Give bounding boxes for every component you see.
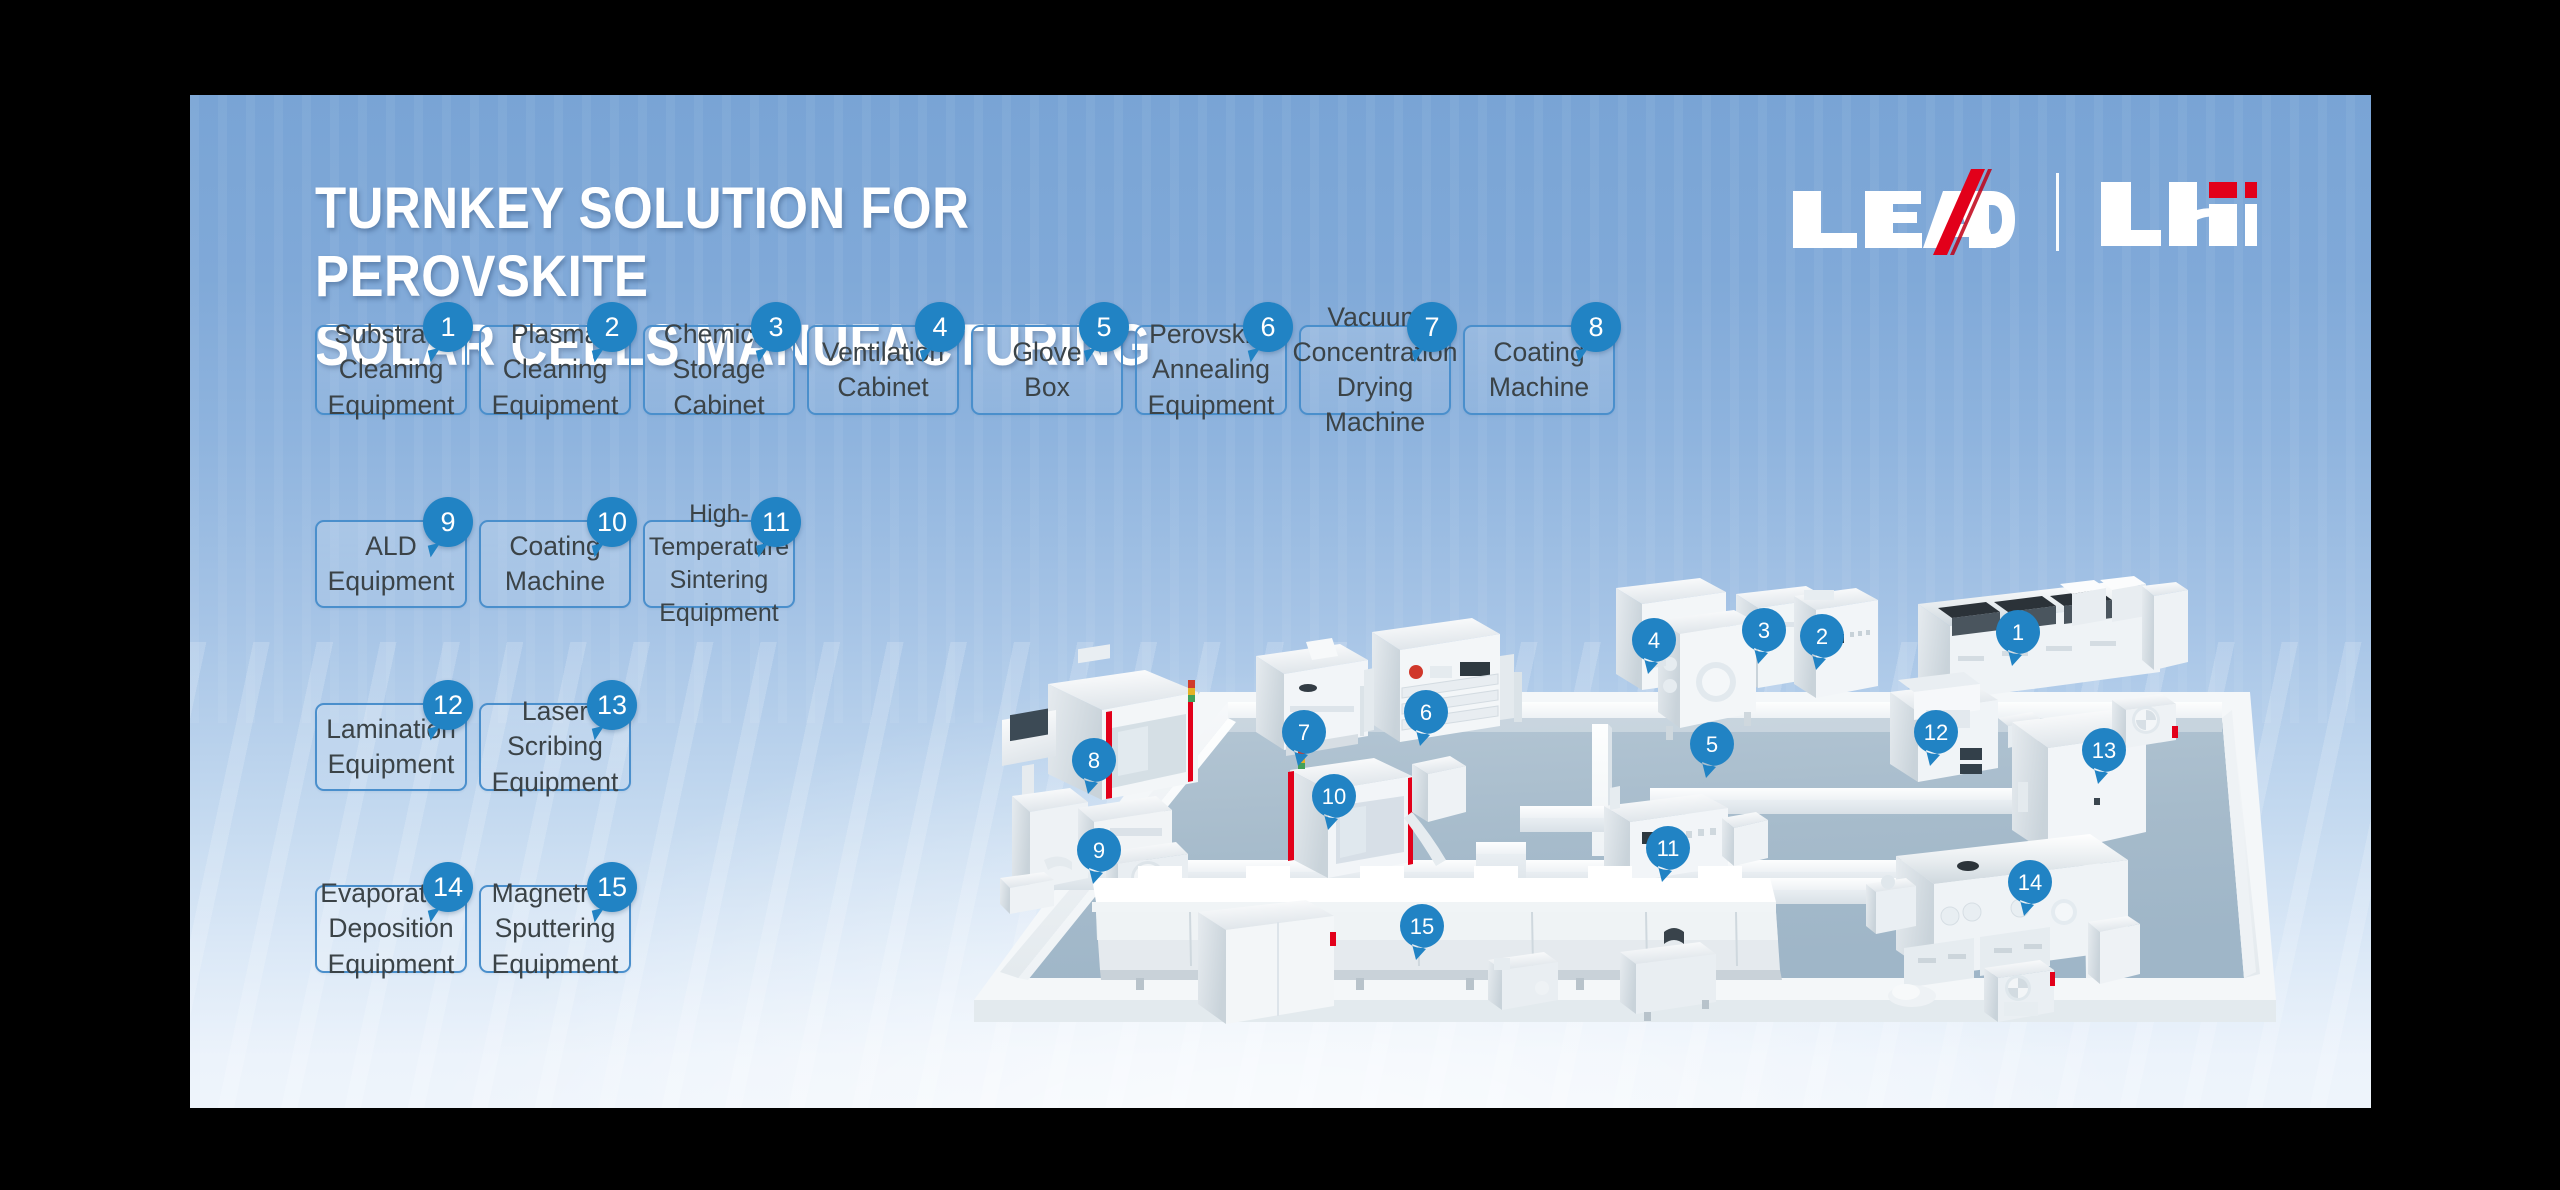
equipment-card-14[interactable]: 14 Evaporation Deposition Equipment xyxy=(315,885,467,973)
equipment-row-3: 12 Lamination Equipment 13 Laser Scribin… xyxy=(315,703,631,791)
equipment-card-10[interactable]: 10 Coating Machine xyxy=(479,520,631,608)
svg-text:2: 2 xyxy=(1816,624,1828,649)
equipment-card-1[interactable]: 1 Substrate Cleaning Equipment xyxy=(315,325,467,415)
svg-text:15: 15 xyxy=(1410,914,1434,939)
machine-8-coating-machine xyxy=(1002,644,1198,808)
equipment-badge-15[interactable]: 15 xyxy=(587,862,637,912)
svg-text:7: 7 xyxy=(1298,720,1310,745)
equipment-badge-2[interactable]: 2 xyxy=(587,302,637,352)
svg-text:6: 6 xyxy=(1420,700,1432,725)
svg-text:11: 11 xyxy=(1657,836,1680,861)
equipment-card-11[interactable]: 11 High-Temperature Sintering Equipment xyxy=(643,520,795,608)
equipment-card-4[interactable]: 4 Ventilation Cabinet xyxy=(807,325,959,415)
equipment-card-5[interactable]: 5 Glove Box xyxy=(971,325,1123,415)
equipment-card-8[interactable]: 8 Coating Machine xyxy=(1463,325,1615,415)
lead-logo xyxy=(1791,169,2016,255)
equipment-card-12[interactable]: 12 Lamination Equipment xyxy=(315,703,467,791)
equipment-badge-10[interactable]: 10 xyxy=(587,497,637,547)
machine-10-coating-machine xyxy=(1288,750,1466,878)
equipment-card-6[interactable]: 6 Perovskite Annealing Equipment xyxy=(1135,325,1287,415)
svg-text:8: 8 xyxy=(1088,748,1100,773)
floorplan-svg: 8 9 7 6 10 xyxy=(960,560,2290,1080)
equipment-card-9[interactable]: 9 ALD Equipment xyxy=(315,520,467,608)
equipment-label-5: Glove Box xyxy=(1012,335,1081,405)
equipment-badge-6[interactable]: 6 xyxy=(1243,302,1293,352)
equipment-card-3[interactable]: 3 Chemical Storage Cabinet xyxy=(643,325,795,415)
equipment-badge-1[interactable]: 1 xyxy=(423,302,473,352)
equipment-row-4: 14 Evaporation Deposition Equipment 15 M… xyxy=(315,885,631,973)
equipment-card-13[interactable]: 13 Laser Scribing Equipment xyxy=(479,703,631,791)
logo-divider xyxy=(2056,173,2059,251)
equipment-badge-5[interactable]: 5 xyxy=(1079,302,1129,352)
svg-text:12: 12 xyxy=(1924,720,1948,745)
svg-text:14: 14 xyxy=(2018,870,2042,895)
equipment-badge-3[interactable]: 3 xyxy=(751,302,801,352)
equipment-row-2: 9 ALD Equipment 10 Coating Machine 11 Hi… xyxy=(315,520,795,608)
svg-text:3: 3 xyxy=(1758,618,1770,643)
svg-text:10: 10 xyxy=(1322,784,1346,809)
svg-text:1: 1 xyxy=(2012,620,2024,645)
lhi-logo xyxy=(2099,176,2259,248)
equipment-card-7[interactable]: 7 Vacuum Concentration Drying Machine xyxy=(1299,325,1451,415)
equipment-badge-12[interactable]: 12 xyxy=(423,680,473,730)
equipment-badge-9[interactable]: 9 xyxy=(423,497,473,547)
equipment-card-2[interactable]: 2 Plasma Cleaning Equipment xyxy=(479,325,631,415)
equipment-row-1: 1 Substrate Cleaning Equipment 2 Plasma … xyxy=(315,325,1615,415)
equipment-badge-4[interactable]: 4 xyxy=(915,302,965,352)
equipment-card-15[interactable]: 15 Magnetron Sputtering Equipment xyxy=(479,885,631,973)
equipment-badge-11[interactable]: 11 xyxy=(751,497,801,547)
equipment-badge-8[interactable]: 8 xyxy=(1571,302,1621,352)
equipment-label-10: Coating Machine xyxy=(505,529,605,599)
equipment-badge-14[interactable]: 14 xyxy=(423,862,473,912)
equipment-badge-13[interactable]: 13 xyxy=(587,680,637,730)
svg-text:5: 5 xyxy=(1706,732,1718,757)
equipment-badge-7[interactable]: 7 xyxy=(1407,302,1457,352)
svg-text:4: 4 xyxy=(1648,628,1660,653)
svg-text:9: 9 xyxy=(1093,838,1105,863)
svg-text:13: 13 xyxy=(2092,738,2116,763)
factory-3d-floorplan: 8 9 7 6 10 xyxy=(960,560,2290,1080)
infographic-panel: TURNKEY SOLUTION FOR PEROVSKITE SOLAR CE… xyxy=(190,95,2371,1108)
screenshot-stage: TURNKEY SOLUTION FOR PEROVSKITE SOLAR CE… xyxy=(0,0,2560,1190)
brand-logo-group xyxy=(1791,168,2259,256)
equipment-label-8: Coating Machine xyxy=(1489,335,1589,405)
